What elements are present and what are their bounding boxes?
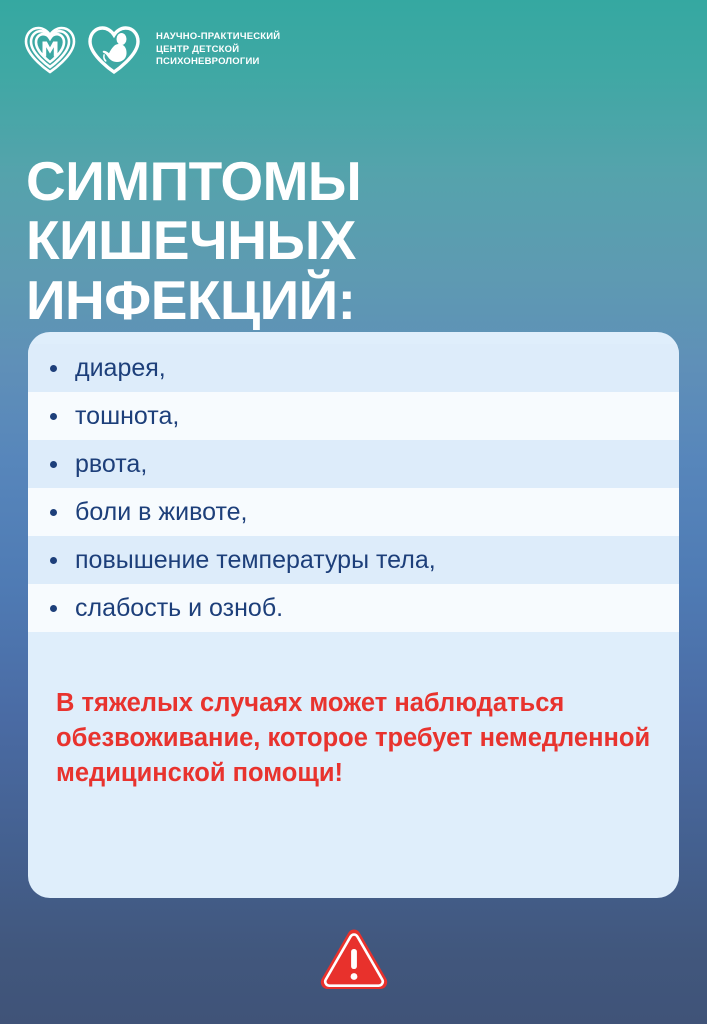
list-item-label: повышение температуры тела, [75,548,436,573]
poster: НАУЧНО-ПРАКТИЧЕСКИЙ ЦЕНТР ДЕТСКОЙ ПСИХОН… [0,0,707,1024]
list-item-label: диарея, [75,356,166,381]
bullet-icon [50,557,57,564]
list-item-label: рвота, [75,452,147,477]
bullet-icon [50,413,57,420]
list-item: слабость и озноб. [28,584,679,632]
list-item: диарея, [28,344,679,392]
list-item-label: слабость и озноб. [75,596,283,621]
list-item: боли в животе, [28,488,679,536]
list-item: тошнота, [28,392,679,440]
warning-triangle-icon [317,925,391,991]
bullet-icon [50,365,57,372]
list-item: повышение температуры тела, [28,536,679,584]
list-item: рвота, [28,440,679,488]
symptom-list: диарея, тошнота, рвота, боли в животе, п… [28,332,679,632]
bullet-icon [50,461,57,468]
bullet-icon [50,605,57,612]
bullet-icon [50,509,57,516]
list-item-label: тошнота, [75,404,179,429]
heart-with-child-icon [86,24,142,76]
heart-with-m-icon [22,24,78,76]
logo-marks [22,24,142,76]
list-item-label: боли в животе, [75,500,247,525]
alert-footer [0,925,707,991]
brand-header: НАУЧНО-ПРАКТИЧЕСКИЙ ЦЕНТР ДЕТСКОЙ ПСИХОН… [22,24,280,76]
page-title: СИМПТОМЫ КИШЕЧНЫХ ИНФЕКЦИЙ: [26,152,686,330]
organization-name: НАУЧНО-ПРАКТИЧЕСКИЙ ЦЕНТР ДЕТСКОЙ ПСИХОН… [156,31,280,69]
content-card: диарея, тошнота, рвота, боли в животе, п… [28,332,679,898]
warning-message: В тяжелых случаях может наблюдаться обез… [28,632,679,792]
